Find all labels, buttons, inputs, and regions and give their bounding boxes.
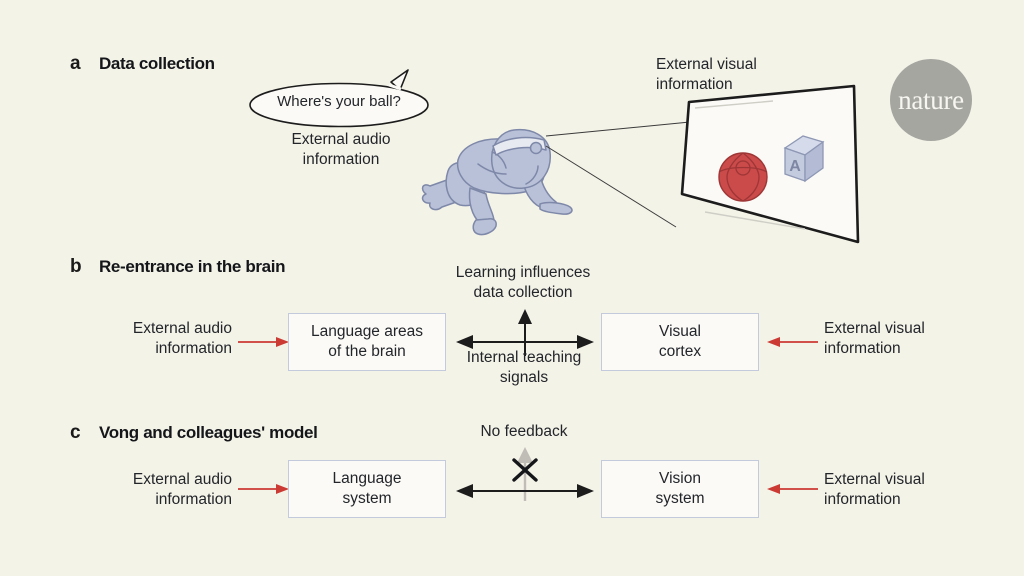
panel-c-bidir-arrow-left <box>456 484 473 498</box>
panel-c-bidir-arrow-right <box>577 484 594 498</box>
panel-b-letter: b <box>70 256 81 278</box>
panel-c-left-red-arrow <box>238 481 290 497</box>
panel-c-left-label: External audio information <box>80 470 232 510</box>
panel-c-language-box[interactable]: Language system <box>288 460 446 518</box>
no-feedback-x-icon <box>508 455 542 485</box>
nature-logo-text: nature <box>898 85 964 116</box>
panel-c-letter: c <box>70 422 80 444</box>
infant-toes <box>473 219 496 235</box>
panel-c-right-label: External visual information <box>824 470 984 510</box>
nature-logo: nature <box>890 59 972 141</box>
panel-b-title: Re-entrance in the brain <box>99 257 285 277</box>
scene-quad <box>682 86 858 242</box>
panel-b-right-label: External visual information <box>824 319 984 359</box>
panel-b-right-red-arrow <box>766 334 818 350</box>
panel-a-title: Data collection <box>99 54 215 74</box>
panel-b-language-box[interactable]: Language areas of the brain <box>288 313 446 371</box>
ball-object <box>719 153 767 201</box>
panel-b-up-arrow-label: Learning influences data collection <box>438 263 608 303</box>
panel-b-bidir-arrow-left <box>456 335 473 349</box>
panel-b-left-red-arrow <box>238 334 290 350</box>
panel-b-left-label: External audio information <box>80 319 232 359</box>
panel-b-bidir-label: Internal teaching signals <box>440 348 608 388</box>
panel-a-letter: a <box>70 53 80 75</box>
panel-b-visual-box[interactable]: Visual cortex <box>601 313 759 371</box>
panel-a-audio-label: External audio information <box>252 130 430 170</box>
panel-c-up-arrow-label: No feedback <box>440 422 608 442</box>
visual-scene-panel: A <box>655 84 870 254</box>
cube-letter: A <box>789 158 801 175</box>
figure-root: nature a Data collection Where's your ba… <box>0 0 1024 576</box>
speech-bubble-text: Where's your ball? <box>252 92 426 111</box>
panel-b-bidir-arrow-right <box>577 335 594 349</box>
panel-c-vision-box[interactable]: Vision system <box>601 460 759 518</box>
panel-c-title: Vong and colleagues' model <box>99 423 318 443</box>
panel-c-right-red-arrow <box>766 481 818 497</box>
panel-b-up-arrow-head <box>518 309 532 324</box>
